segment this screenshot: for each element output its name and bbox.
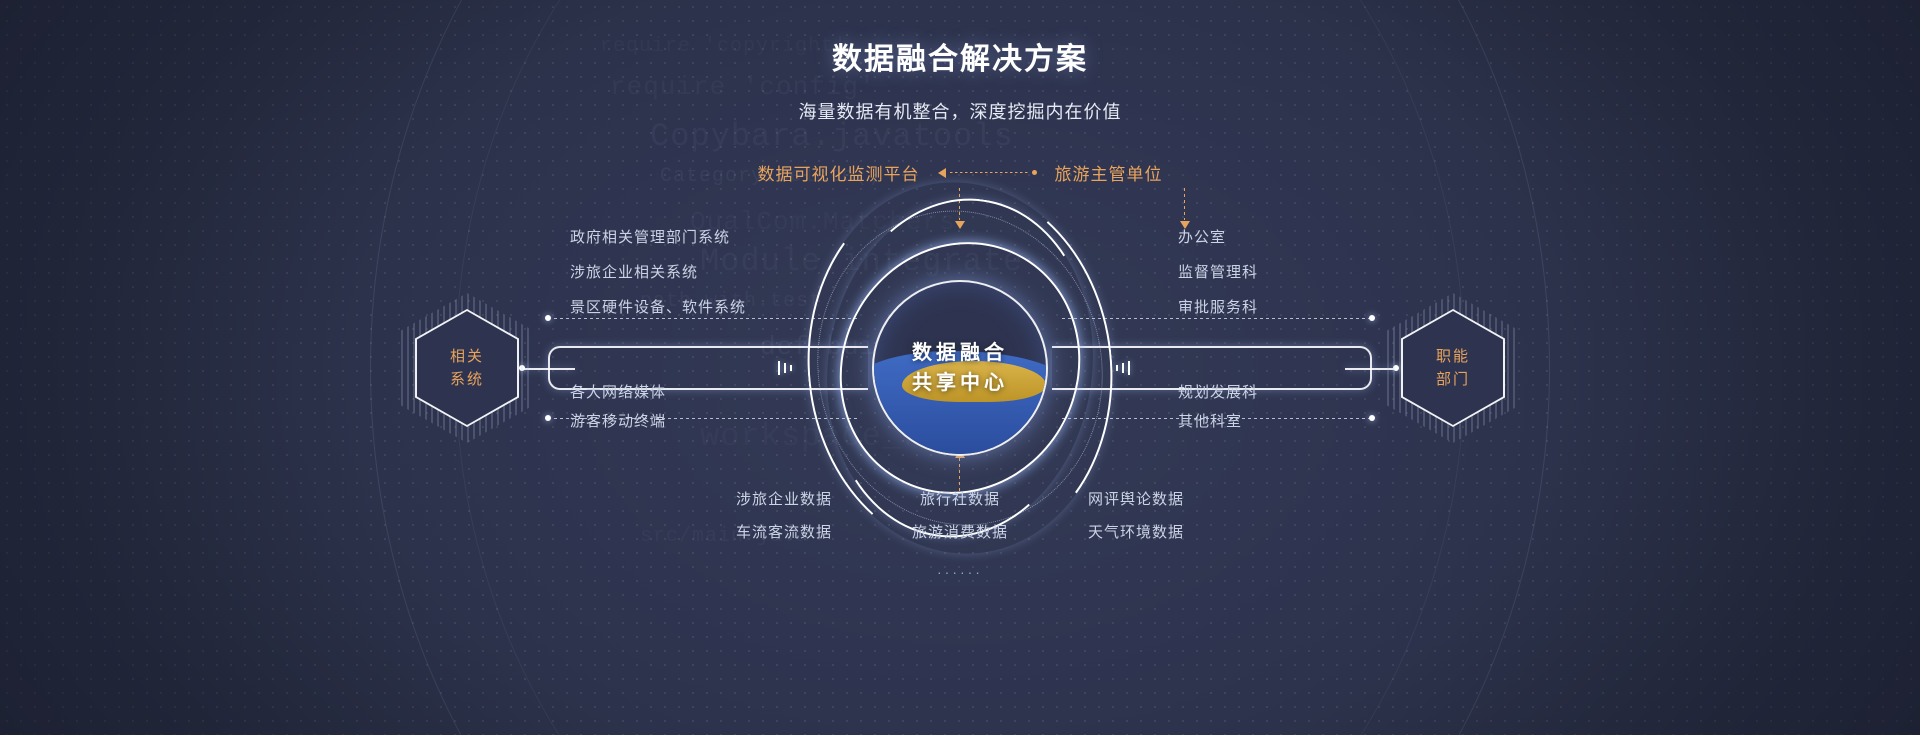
left-label-1: 涉旅企业相关系统 [570,261,698,282]
bottom-cell-r1c2: 旅行社数据 [889,488,1031,509]
hub-label-line1: 数据融合 [912,338,1008,368]
hexagon-label-line2: 部门 [1436,368,1470,391]
dot-left-upper-icon [545,315,551,321]
right-label-2: 审批服务科 [1178,296,1258,317]
bottom-cell-r2c2: 旅游消费数据 [889,521,1031,542]
label-visualization-platform: 数据可视化监测平台 [758,160,920,185]
top-flow-row: 数据可视化监测平台 旅游主管单位 [0,160,1920,185]
hub-label-line2: 共享中心 [912,368,1008,398]
bus-tick-right-3 [1116,365,1118,371]
bus-tick-left-2 [784,363,786,373]
arrow-head-icon [938,168,946,178]
hub-label: 数据融合 共享中心 [872,280,1048,456]
hexagon-label-line2: 系统 [450,368,484,391]
bus-tick-left-3 [790,365,792,371]
arrow-right-to-left-dotted [934,168,1041,178]
bottom-cell-r1c3: 网评舆论数据 [1065,488,1207,509]
bus-tick-right-2 [1122,363,1124,373]
dot-right-lower-icon [1369,415,1375,421]
hexagon-functional-departments[interactable]: 职能 部门 [1401,309,1505,427]
bottom-cell-r2c3: 天气环境数据 [1065,521,1207,542]
hexagon-label-line1: 相关 [450,345,484,368]
connector-line [1184,188,1185,220]
right-label-4: 其他科室 [1178,410,1242,431]
right-label-3: 规划发展科 [1178,381,1258,402]
bottom-grid: 涉旅企业数据 旅行社数据 网评舆论数据 车流客流数据 旅游消费数据 天气环境数据… [713,488,1207,580]
right-label-1: 监督管理科 [1178,261,1258,282]
hexagon-label-line1: 职能 [1436,345,1470,368]
bus-tick-right-1 [1128,361,1130,375]
page-subtitle: 海量数据有机整合，深度挖掘内在价值 [0,98,1920,124]
left-label-4: 游客移动终端 [570,410,666,431]
bottom-cell-r2c1: 车流客流数据 [713,521,855,542]
dot-right-upper-icon [1369,315,1375,321]
bottom-row-1: 涉旅企业数据 旅行社数据 网评舆论数据 [713,488,1207,509]
bus-tick-left-1 [778,361,780,375]
arrow-tail-dot-icon [1032,170,1037,175]
dotted-line [950,172,1028,173]
label-tourism-authority: 旅游主管单位 [1055,160,1163,185]
connector-authority-down [1180,188,1190,220]
hexagon-label: 职能 部门 [1436,345,1470,392]
dotted-line-right-upper [1062,318,1372,319]
right-label-0: 办公室 [1178,226,1226,247]
bottom-data-sources: 涉旅企业数据 旅行社数据 网评舆论数据 车流客流数据 旅游消费数据 天气环境数据… [0,488,1920,580]
left-label-3: 各大网络媒体 [570,381,666,402]
bottom-row-2: 车流客流数据 旅游消费数据 天气环境数据 [713,521,1207,542]
hexagon-related-systems[interactable]: 相关 系统 [415,309,519,427]
dot-left-lower-icon [545,415,551,421]
hexagon-label: 相关 系统 [450,345,484,392]
bottom-ellipsis: ······ [937,564,983,580]
page-header: 数据融合解决方案 海量数据有机整合，深度挖掘内在价值 [0,34,1920,124]
left-label-2: 景区硬件设备、软件系统 [570,296,746,317]
bottom-cell-r1c1: 涉旅企业数据 [713,488,855,509]
left-label-0: 政府相关管理部门系统 [570,226,730,247]
page-title: 数据融合解决方案 [0,34,1920,78]
